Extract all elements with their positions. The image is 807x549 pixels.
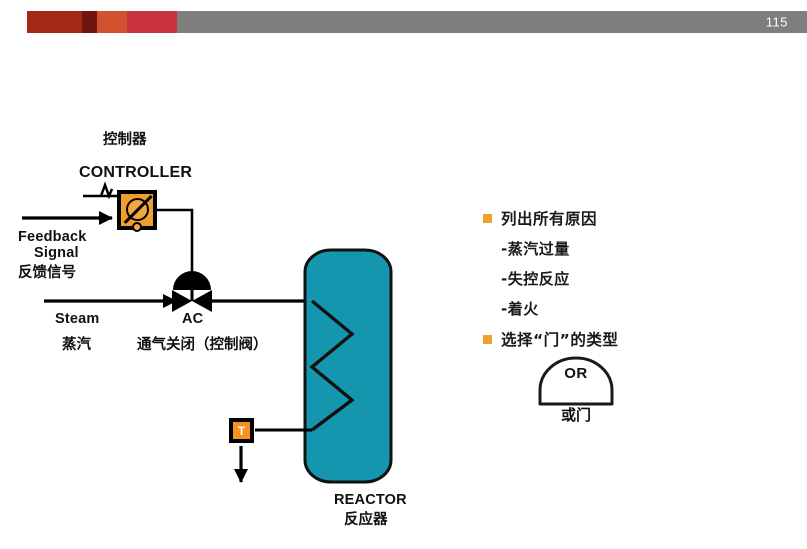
temperature-sensor-symbol: T [229,418,254,443]
reactor-heating-coil [312,301,352,430]
list-item: -着火 [501,298,713,319]
reactor-label-cn: 反应器 [344,512,388,529]
controller-label-en: CONTROLLER [79,164,192,182]
list-item-label: -蒸汽过量 [501,238,570,259]
header-color-band: 115 [27,11,807,33]
list-item-label: 选择“门”的类型 [501,328,618,350]
bullet-square-icon [483,335,492,344]
list-item: -失控反应 [501,268,713,289]
list-item: -蒸汽过量 [501,238,713,259]
controller-bottom-nub [132,222,142,232]
band-segment-crimson [127,11,177,33]
controller-symbol [117,190,157,230]
or-gate-group: OR 或门 [536,360,616,426]
band-segment-orange-red [97,11,127,33]
setpoint-line [83,185,117,196]
list-item-label: 列出所有原因 [501,207,597,229]
band-segment-dark-red [82,11,97,33]
or-gate-label-cn: 或门 [536,404,616,425]
valve-label-cn: 通气关闭（控制阀） [137,337,268,354]
controller-output-line [157,210,192,272]
list-item-label: -着火 [501,298,539,319]
steam-label-cn: 蒸汽 [62,337,91,354]
steam-label-en: Steam [55,311,100,328]
list-item: 选择“门”的类型 [483,328,713,350]
valve-actuator [173,271,211,290]
control-valve-body [172,272,212,312]
feedback-signal-label-line1: Feedback [18,229,87,246]
list-item-label: -失控反应 [501,268,570,289]
valve-label-en: AC [182,311,203,328]
feedback-signal-label-line2: Signal [34,245,79,262]
band-segment-gray [177,11,807,33]
or-gate-label-en: OR [536,365,616,382]
controller-label-cn: 控制器 [103,132,147,149]
page-number: 115 [766,15,788,30]
list-item: 列出所有原因 [483,207,713,229]
notes-list: 列出所有原因 -蒸汽过量 -失控反应 -着火 选择“门”的类型 [483,207,713,359]
band-segment-brick-red [27,11,82,33]
bullet-square-icon [483,214,492,223]
reactor-vessel [305,250,391,482]
reactor-label-en: REACTOR [334,492,407,509]
slide-canvas: 115 [0,0,807,549]
feedback-signal-label-cn: 反馈信号 [18,265,76,282]
